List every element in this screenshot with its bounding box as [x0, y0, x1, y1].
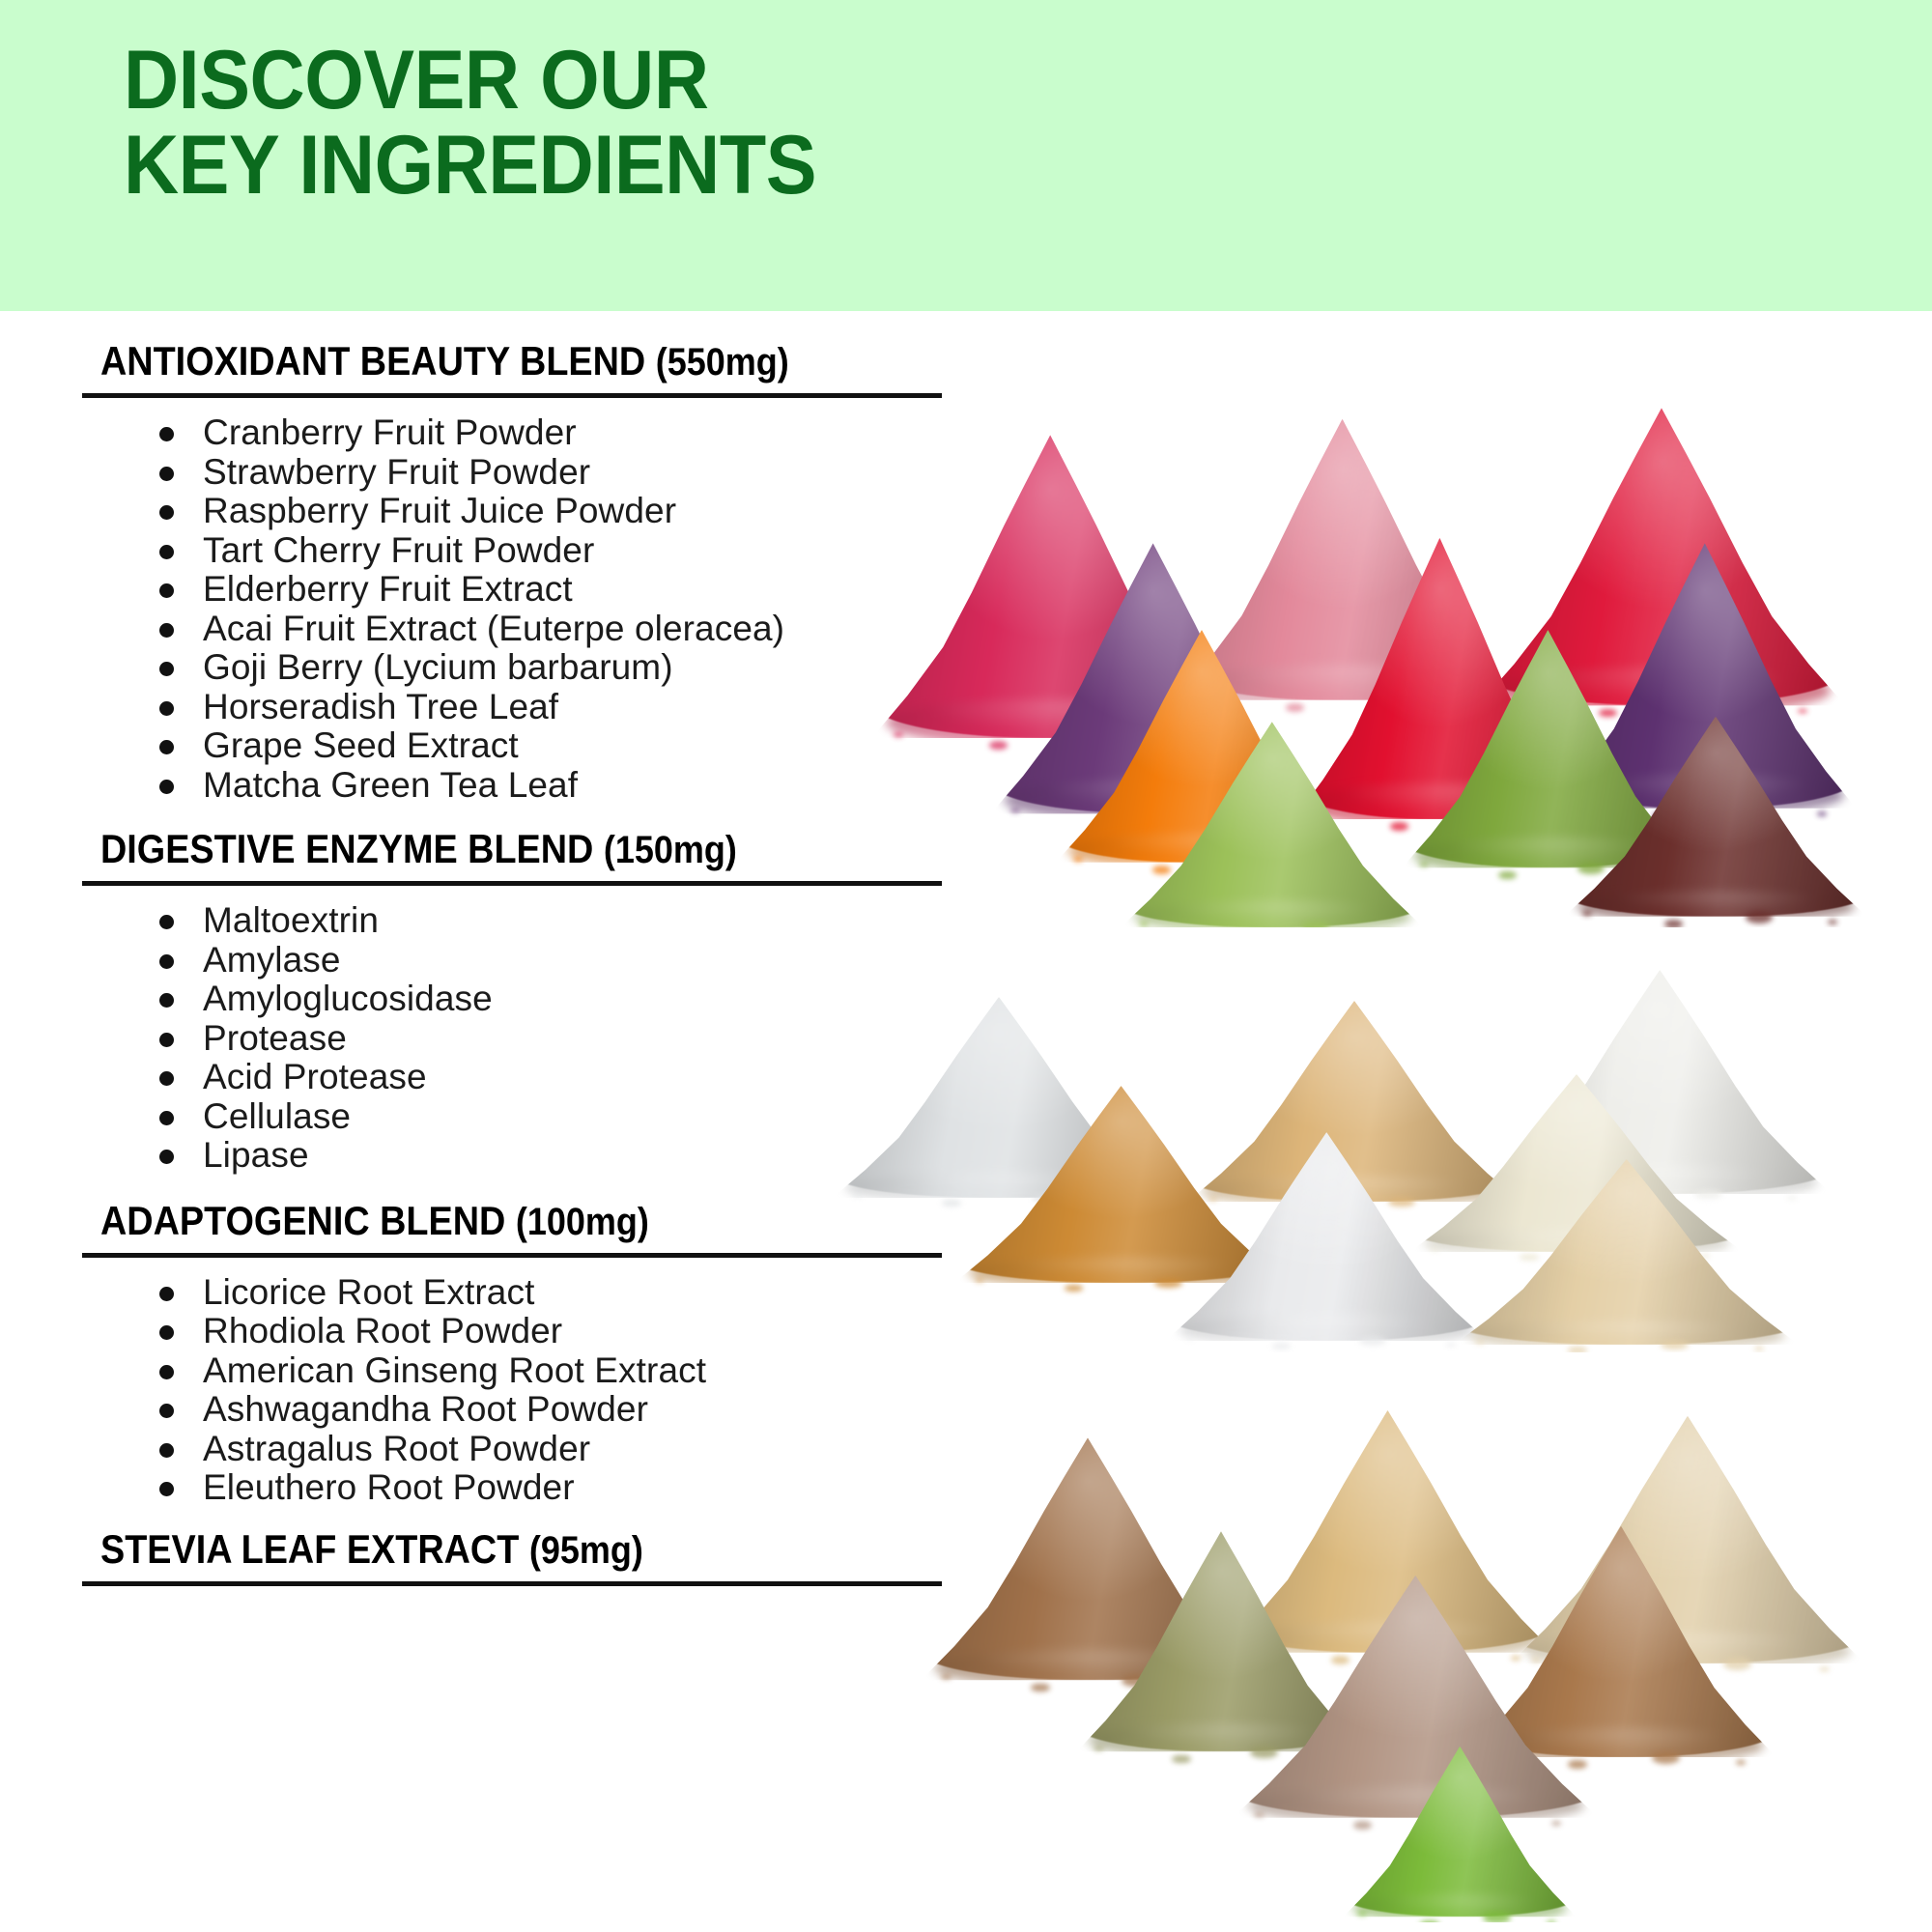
blend-name: ANTIOXIDANT BEAUTY BLEND: [100, 338, 645, 384]
ingredient-list-adaptogenic: Licorice Root Extract Rhodiola Root Powd…: [0, 1273, 976, 1508]
list-item: Eleuthero Root Powder: [159, 1468, 976, 1508]
cranberry-crimson-powder-dust: [989, 741, 1008, 750]
blend-name: DIGESTIVE ENZYME BLEND: [100, 826, 593, 871]
tart-cherry-red-powder-dust: [1390, 822, 1408, 831]
list-item: Lipase: [159, 1136, 976, 1176]
list-item: Elderberry Fruit Extract: [159, 570, 976, 610]
matcha-green-powder-dust: [1139, 922, 1149, 926]
lipase-beige-powder-dust: [1661, 1341, 1689, 1350]
list-item: Strawberry Fruit Powder: [159, 453, 976, 493]
amylase-tan-powder: [1188, 1001, 1521, 1202]
amyloglucosidase-powder-dust: [1787, 1196, 1797, 1199]
astragalus-brown-powder-dust: [1736, 1760, 1746, 1765]
matcha-green-powder-dust: [1302, 922, 1329, 927]
section-divider: [82, 881, 942, 886]
blend-dose: (95mg): [529, 1529, 643, 1572]
blend-title-antioxidant: ANTIOXIDANT BEAUTY BLEND (550mg): [100, 340, 888, 383]
list-item: Matcha Green Tea Leaf: [159, 766, 976, 806]
maltodextrin-white-powder-dust: [942, 1200, 961, 1206]
stevia-green-powder-dust: [1483, 1912, 1511, 1922]
protease-cream-powder-dust: [1520, 1254, 1539, 1260]
cellulase-white-powder-dust: [1272, 1343, 1292, 1349]
astragalus-brown-powder-dust: [1568, 1760, 1587, 1769]
astragalus-brown-powder-dust: [1652, 1751, 1680, 1764]
ashwagandha-sage-powder-dust: [1094, 1747, 1103, 1751]
grape-seed-brown-powder-dust: [1582, 911, 1592, 916]
moringa-green-powder-dust: [1577, 863, 1605, 875]
blend-title-digestive: DIGESTIVE ENZYME BLEND (150mg): [100, 828, 888, 870]
stevia-green-powder-dust: [1420, 1920, 1439, 1922]
list-item: Cellulase: [159, 1097, 976, 1137]
rhodiola-tan-powder-dust: [1331, 1656, 1350, 1664]
ingredient-sections: ANTIOXIDANT BEAUTY BLEND (550mg) Cranber…: [0, 311, 976, 1586]
goji-orange-powder-dust: [1073, 857, 1083, 862]
list-item: Acid Protease: [159, 1058, 976, 1097]
ginseng-beige-powder: [1510, 1416, 1865, 1664]
list-item: Licorice Root Extract: [159, 1273, 976, 1313]
list-item: Protease: [159, 1019, 976, 1059]
lipase-beige-powder-dust: [1568, 1347, 1587, 1352]
amylase-tan-powder-dust: [1388, 1198, 1416, 1207]
list-item: Horseradish Tree Leaf: [159, 688, 976, 727]
page-title: DISCOVER OUR KEY INGREDIENTS: [124, 39, 816, 208]
blend-name: ADAPTOGENIC BLEND: [100, 1198, 505, 1243]
protease-cream-powder-dust: [1430, 1248, 1439, 1251]
list-item: Rhodiola Root Powder: [159, 1312, 976, 1351]
section-divider: [82, 1253, 942, 1258]
blend-dose: (550mg): [656, 341, 789, 384]
acid-protease-amber-powder-dust: [1065, 1285, 1084, 1291]
section-divider: [82, 393, 942, 398]
list-item: Ashwagandha Root Powder: [159, 1390, 976, 1430]
blend-dose: (150mg): [604, 829, 737, 871]
moringa-green-powder-dust: [1498, 871, 1517, 880]
ginseng-beige-powder-dust: [1723, 1658, 1751, 1670]
cranberry-crimson-powder-dust: [894, 732, 903, 737]
blend-dose: (100mg): [516, 1201, 649, 1243]
moringa-green-powder-dust: [1419, 863, 1429, 867]
cellulase-white-powder-dust: [1359, 1337, 1387, 1346]
list-item: Amyloglucosidase: [159, 980, 976, 1019]
raspberry-red-powder-dust: [1599, 709, 1617, 718]
list-item: Cranberry Fruit Powder: [159, 413, 976, 453]
elderberry-purple-powder-dust: [1010, 809, 1020, 813]
licorice-brown-powder-dust: [941, 1675, 951, 1680]
adaptogen-powders-image: [821, 1372, 1932, 1922]
blend-section-stevia: STEVIA LEAF EXTRACT (95mg): [0, 1508, 976, 1586]
grape-seed-brown-powder-dust: [1664, 920, 1683, 927]
ashwagandha-sage-powder-dust: [1172, 1755, 1191, 1764]
list-item: Amylase: [159, 941, 976, 980]
blend-section-digestive: DIGESTIVE ENZYME BLEND (150mg) Maltoextr…: [0, 805, 976, 1176]
goji-orange-powder-dust: [1152, 866, 1171, 874]
strawberry-pink-powder-dust: [1286, 703, 1304, 712]
list-item: Tart Cherry Fruit Powder: [159, 531, 976, 571]
lipase-beige-powder-dust: [1754, 1347, 1764, 1350]
enzyme-powders-image: [821, 966, 1932, 1352]
amyloglucosidase-powder-dust: [1694, 1190, 1722, 1199]
raspberry-red-powder-dust: [1798, 709, 1807, 714]
blend-title-adaptogenic: ADAPTOGENIC BLEND (100mg): [100, 1200, 888, 1242]
list-item: Maltoextrin: [159, 901, 976, 941]
list-item: Astragalus Root Powder: [159, 1430, 976, 1469]
grape-seed-brown-powder-dust: [1746, 911, 1773, 923]
blend-section-adaptogenic: ADAPTOGENIC BLEND (100mg) Licorice Root …: [0, 1176, 976, 1508]
ingredient-list-digestive: Maltoextrin Amylase Amyloglucosidase Pro…: [0, 901, 976, 1176]
ginseng-beige-powder-dust: [1819, 1667, 1829, 1672]
cellulase-white-powder-dust: [1185, 1337, 1195, 1340]
grape-seed-brown-powder-dust: [1828, 920, 1837, 924]
antioxidant-powders-image: [850, 386, 1932, 927]
ashwagandha-sage-powder-dust: [1250, 1747, 1278, 1759]
licorice-brown-powder-dust: [1031, 1684, 1050, 1692]
list-item: Grape Seed Extract: [159, 726, 976, 766]
list-item: American Ginseng Root Extract: [159, 1351, 976, 1391]
blend-name: STEVIA LEAF EXTRACT: [100, 1526, 519, 1572]
header-band: DISCOVER OUR KEY INGREDIENTS: [0, 0, 1932, 311]
ginseng-beige-powder-dust: [1531, 1658, 1541, 1662]
section-divider: [82, 1581, 942, 1586]
blend-section-antioxidant: ANTIOXIDANT BEAUTY BLEND (550mg) Cranber…: [0, 311, 976, 805]
amylase-tan-powder-dust: [1207, 1198, 1217, 1201]
acai-purple-powder-dust: [1817, 811, 1827, 816]
eleuthero-taupe-powder-dust: [1353, 1821, 1373, 1830]
ingredient-list-antioxidant: Cranberry Fruit Powder Strawberry Fruit …: [0, 413, 976, 805]
acid-protease-amber-powder-dust: [975, 1279, 984, 1282]
cellulase-white-powder-dust: [1446, 1343, 1456, 1346]
lipase-beige-powder-dust: [1475, 1341, 1485, 1344]
rhodiola-tan-powder-dust: [1511, 1656, 1520, 1661]
list-item: Goji Berry (Lycium barbarum): [159, 648, 976, 688]
blend-title-stevia: STEVIA LEAF EXTRACT (95mg): [100, 1528, 888, 1571]
ingredients-infographic: DISCOVER OUR KEY INGREDIENTS ANTIOXIDANT…: [0, 0, 1932, 1932]
rhodiola-tan-powder: [1221, 1410, 1554, 1653]
list-item: Raspberry Fruit Juice Powder: [159, 492, 976, 531]
stevia-green-powder-dust: [1547, 1920, 1556, 1922]
acid-protease-amber-powder-dust: [1154, 1279, 1182, 1288]
list-item: Acai Fruit Extract (Euterpe oleracea): [159, 610, 976, 649]
eleuthero-taupe-powder-dust: [1254, 1812, 1264, 1817]
eleuthero-taupe-powder-dust: [1551, 1821, 1561, 1826]
